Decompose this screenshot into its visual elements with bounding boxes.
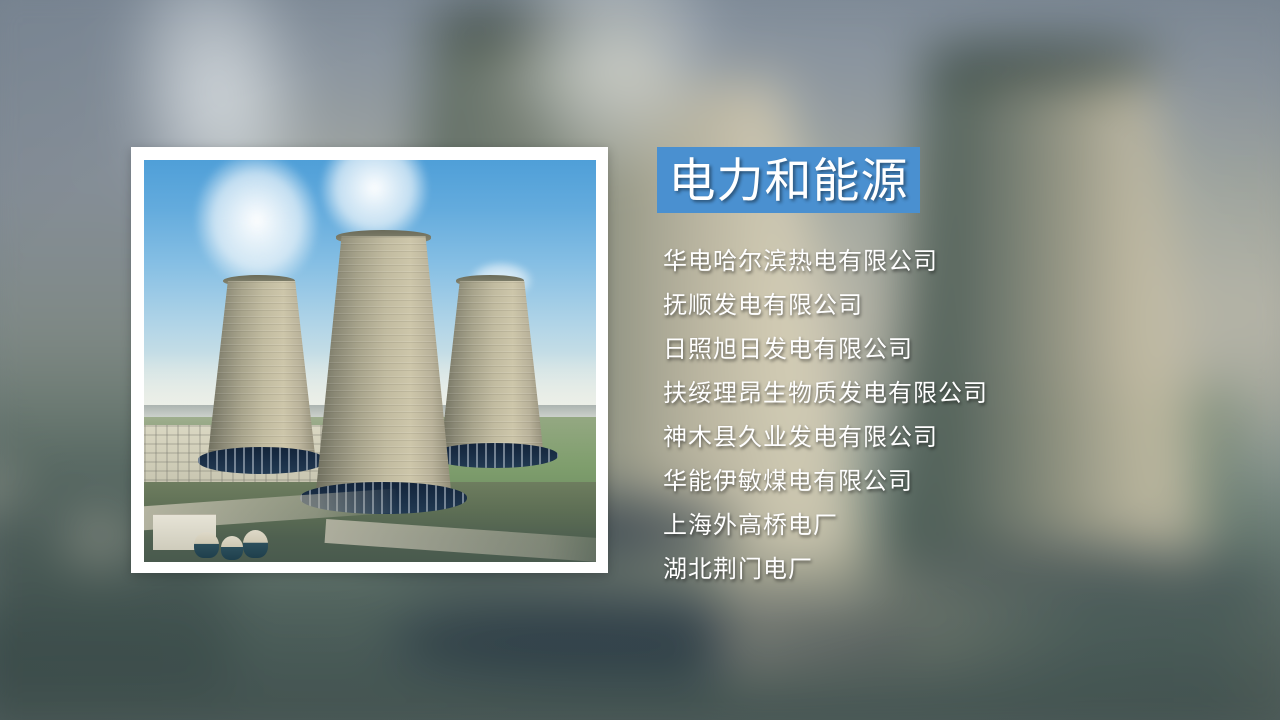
company-list: 华电哈尔滨热电有限公司 抚顺发电有限公司 日照旭日发电有限公司 扶绥理昂生物质发… [663,240,1223,592]
photo-storage-tank-1 [194,532,219,558]
photo-storage-tank-3 [243,530,268,558]
list-item: 日照旭日发电有限公司 [663,328,1223,372]
list-item: 上海外高桥电厂 [663,504,1223,548]
photo-tower-left-base [198,447,325,473]
slide-canvas: 电力和能源 华电哈尔滨热电有限公司 抚顺发电有限公司 日照旭日发电有限公司 扶绥… [0,0,1280,720]
power-plant-photo [144,160,596,562]
photo-frame [131,147,608,573]
photo-tower-right-base [431,443,558,468]
list-item: 华电哈尔滨热电有限公司 [663,240,1223,284]
page-title: 电力和能源 [669,157,909,204]
list-item: 抚顺发电有限公司 [663,284,1223,328]
list-item: 湖北荆门电厂 [663,548,1223,592]
list-item: 扶绥理昂生物质发电有限公司 [663,372,1223,416]
slide-title-box: 电力和能源 [657,147,920,213]
photo-storage-tank-2 [221,536,244,560]
list-item: 神木县久业发电有限公司 [663,416,1223,460]
list-item: 华能伊敏煤电有限公司 [663,460,1223,504]
